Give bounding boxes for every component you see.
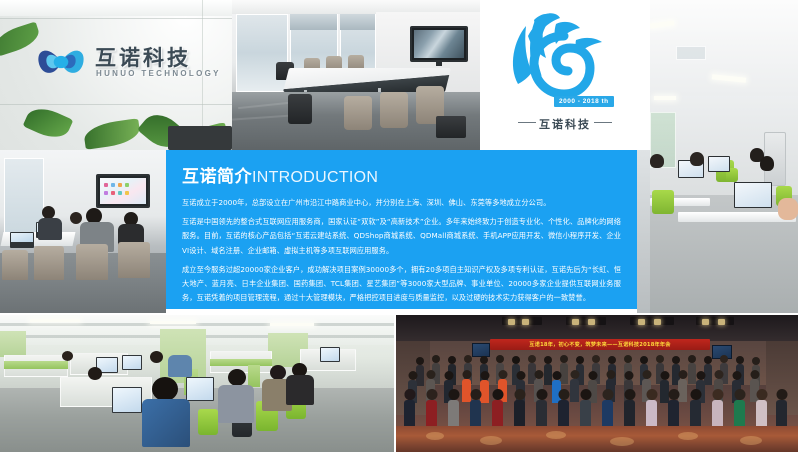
laptop-screen [11,233,33,242]
chair [436,116,466,138]
intro-paragraph-2: 互诺是中国领先的整合式互联网应用服务商，国家认证“双软”及“高新技术”企业。多年… [182,215,621,258]
monitor [122,355,142,370]
ceiling-light [30,319,80,322]
employee-body [218,385,254,423]
company-name-cn: 互诺科技 [95,42,191,72]
employee [650,154,664,168]
employee-body [142,399,190,447]
partition-accent [4,361,68,369]
display-screen [100,178,146,204]
page-title: 互诺简介INTRODUCTION [182,162,621,187]
monitor-screen [187,378,213,400]
event-banner-text: 互诺18年，初心不变，筑梦未来——互诺科技2018年年会 [529,341,670,348]
crowd [396,353,800,427]
conference-room-photo [232,0,480,150]
annual-meeting-photo: 互诺18年，初心不变，筑梦未来——互诺科技2018年年会 [396,315,800,454]
logo-wall-photo: 互诺科技 HUNUO TECHNOLOGY [0,0,232,150]
display-mount [436,62,442,66]
chair [34,246,64,280]
divider [394,315,396,454]
monitor [708,156,730,172]
presentation-display [96,174,150,208]
plant-leaf [23,102,74,144]
employee-body [168,355,192,377]
chair [76,244,108,280]
infinity-logo-icon [33,34,89,90]
intro-paragraph-1: 互诺成立于2000年，总部设立在广州市沿江中路商业中心，并分别在上海、深圳、佛山… [182,196,621,210]
monitor [186,377,214,401]
monitor-screen [709,157,729,171]
employee [760,156,774,171]
lighting-truss [630,317,674,325]
anniversary-year-badge: 2000 - 2018 th [554,96,614,107]
monitor-screen [113,388,141,412]
wall-seam [0,18,232,19]
ceiling-light [270,323,314,326]
employee-arm [778,198,798,220]
anniversary-company-name: 互诺科技 [480,116,650,132]
chair [288,94,312,124]
divider [594,122,612,123]
partition-accent [210,359,272,366]
ceiling-vent [676,46,706,60]
chair [344,96,372,130]
window-blind [340,14,376,30]
chair [380,92,408,128]
heading-en: INTRODUCTION [252,169,378,186]
carpet [396,426,800,454]
company-profile-collage: 互诺科技 HUNUO TECHNOLOGY [0,0,800,454]
anniversary-logo-photo: 2000 - 2018 th 互诺科技 [480,0,650,150]
employee-body [286,375,314,405]
anniversary-18-icon [498,10,610,110]
plant-leaf [83,118,142,150]
employee [152,377,178,401]
divider [0,313,800,315]
attendee-body [38,218,62,240]
partition-accent [248,365,260,387]
open-office-photo [0,315,396,454]
attendee [70,212,82,224]
office-chair [652,190,674,214]
employee [62,351,73,361]
monitor-screen [123,356,141,369]
office-right-photo [650,0,800,315]
event-banner: 互诺18年，初心不变，筑梦未来——互诺科技2018年年会 [490,339,710,350]
window-blind [290,14,338,30]
chair [118,242,150,278]
ceiling [0,0,232,16]
monitor [734,182,772,208]
window [236,14,288,92]
employee [150,351,163,363]
monitor [320,347,340,362]
wall-seam [0,104,232,105]
heading-cn: 互诺简介 [182,167,252,187]
wall-display [410,26,468,62]
chair [2,250,28,280]
company-name-en: HUNUO TECHNOLOGY [96,69,221,78]
office-strip [637,150,650,315]
monitor [112,387,142,413]
employee [88,367,102,380]
laptop [10,232,34,248]
introduction-panel: 互诺简介INTRODUCTION 互诺成立于2000年，总部设立在广州市沿江中路… [166,150,637,309]
employee [228,369,246,386]
office-chair [198,409,218,435]
ceiling-light [654,96,676,100]
employee [690,152,704,166]
reception-counter [168,126,232,150]
intro-paragraph-3: 成立至今服务过超20000家企业客户，成功解决项目案例30000多个，拥有20多… [182,263,621,306]
ceiling-beam [0,323,396,326]
display-screen [414,30,464,58]
ceiling-light [150,321,196,324]
ceiling [650,0,800,96]
monitor-screen [321,348,339,361]
employee [270,365,286,380]
green-wall [0,331,26,357]
monitor-screen [735,183,771,207]
training-room-photo [0,150,166,315]
